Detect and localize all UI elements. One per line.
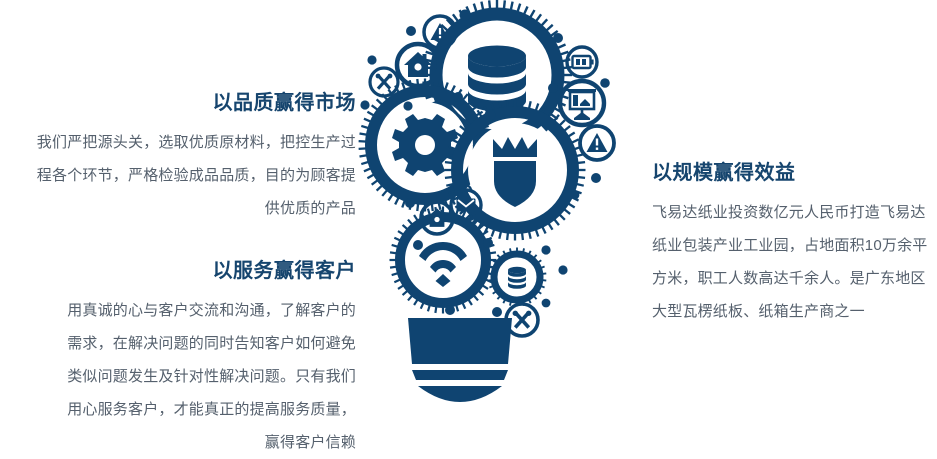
battery-icon [573,56,594,68]
home-icon [404,52,432,77]
badge-battery [567,47,597,77]
envelope-icon [457,199,476,212]
presentation-chart-icon [568,89,596,120]
badge-presentation [560,81,604,125]
screw-body [408,318,512,364]
tools-icon [513,311,532,329]
section-quality-body: 我们严把源头关，选取优质原材料，把控生产过程各个环节，严格检验成品品质，目的为顾… [22,126,356,225]
warning-triangle-icon [587,133,608,152]
section-scale: 以规模赢得效益 飞易达纸业投资数亿元人民币打造飞易达纸业包装产业工业园，占地面积… [652,160,937,328]
section-quality: 以品质赢得市场 我们严把源头关，选取优质原材料，把控生产过程各个环节，严格检验成… [22,90,356,225]
section-scale-heading: 以规模赢得效益 [652,160,937,186]
section-service-heading: 以服务赢得客户 [60,258,356,284]
tools-icon [376,74,393,90]
section-quality-heading: 以品质赢得市场 [22,90,356,116]
infographic-canvas: 以品质赢得市场 我们严把源头关，选取优质原材料，把控生产过程各个环节，严格检验成… [0,0,937,444]
badge-warning-right [580,126,614,160]
bulb-base [408,318,512,402]
tip-cap [418,386,502,402]
badge-tools-left [370,68,398,96]
gear-database-small [488,248,547,307]
section-service: 以服务赢得客户 用真诚的心与客户交流和沟通，了解客户的需求，在解决问题的同时告知… [60,258,356,459]
contact-bar [412,370,508,380]
lightbulb-gears-graphic [350,0,640,444]
section-service-body: 用真诚的心与客户交流和沟通，了解客户的需求，在解决问题的同时告知客户如何避免类似… [60,294,356,459]
section-scale-body: 飞易达纸业投资数亿元人民币打造飞易达纸业包装产业工业园，占地面积10万余平方米，… [652,196,937,328]
